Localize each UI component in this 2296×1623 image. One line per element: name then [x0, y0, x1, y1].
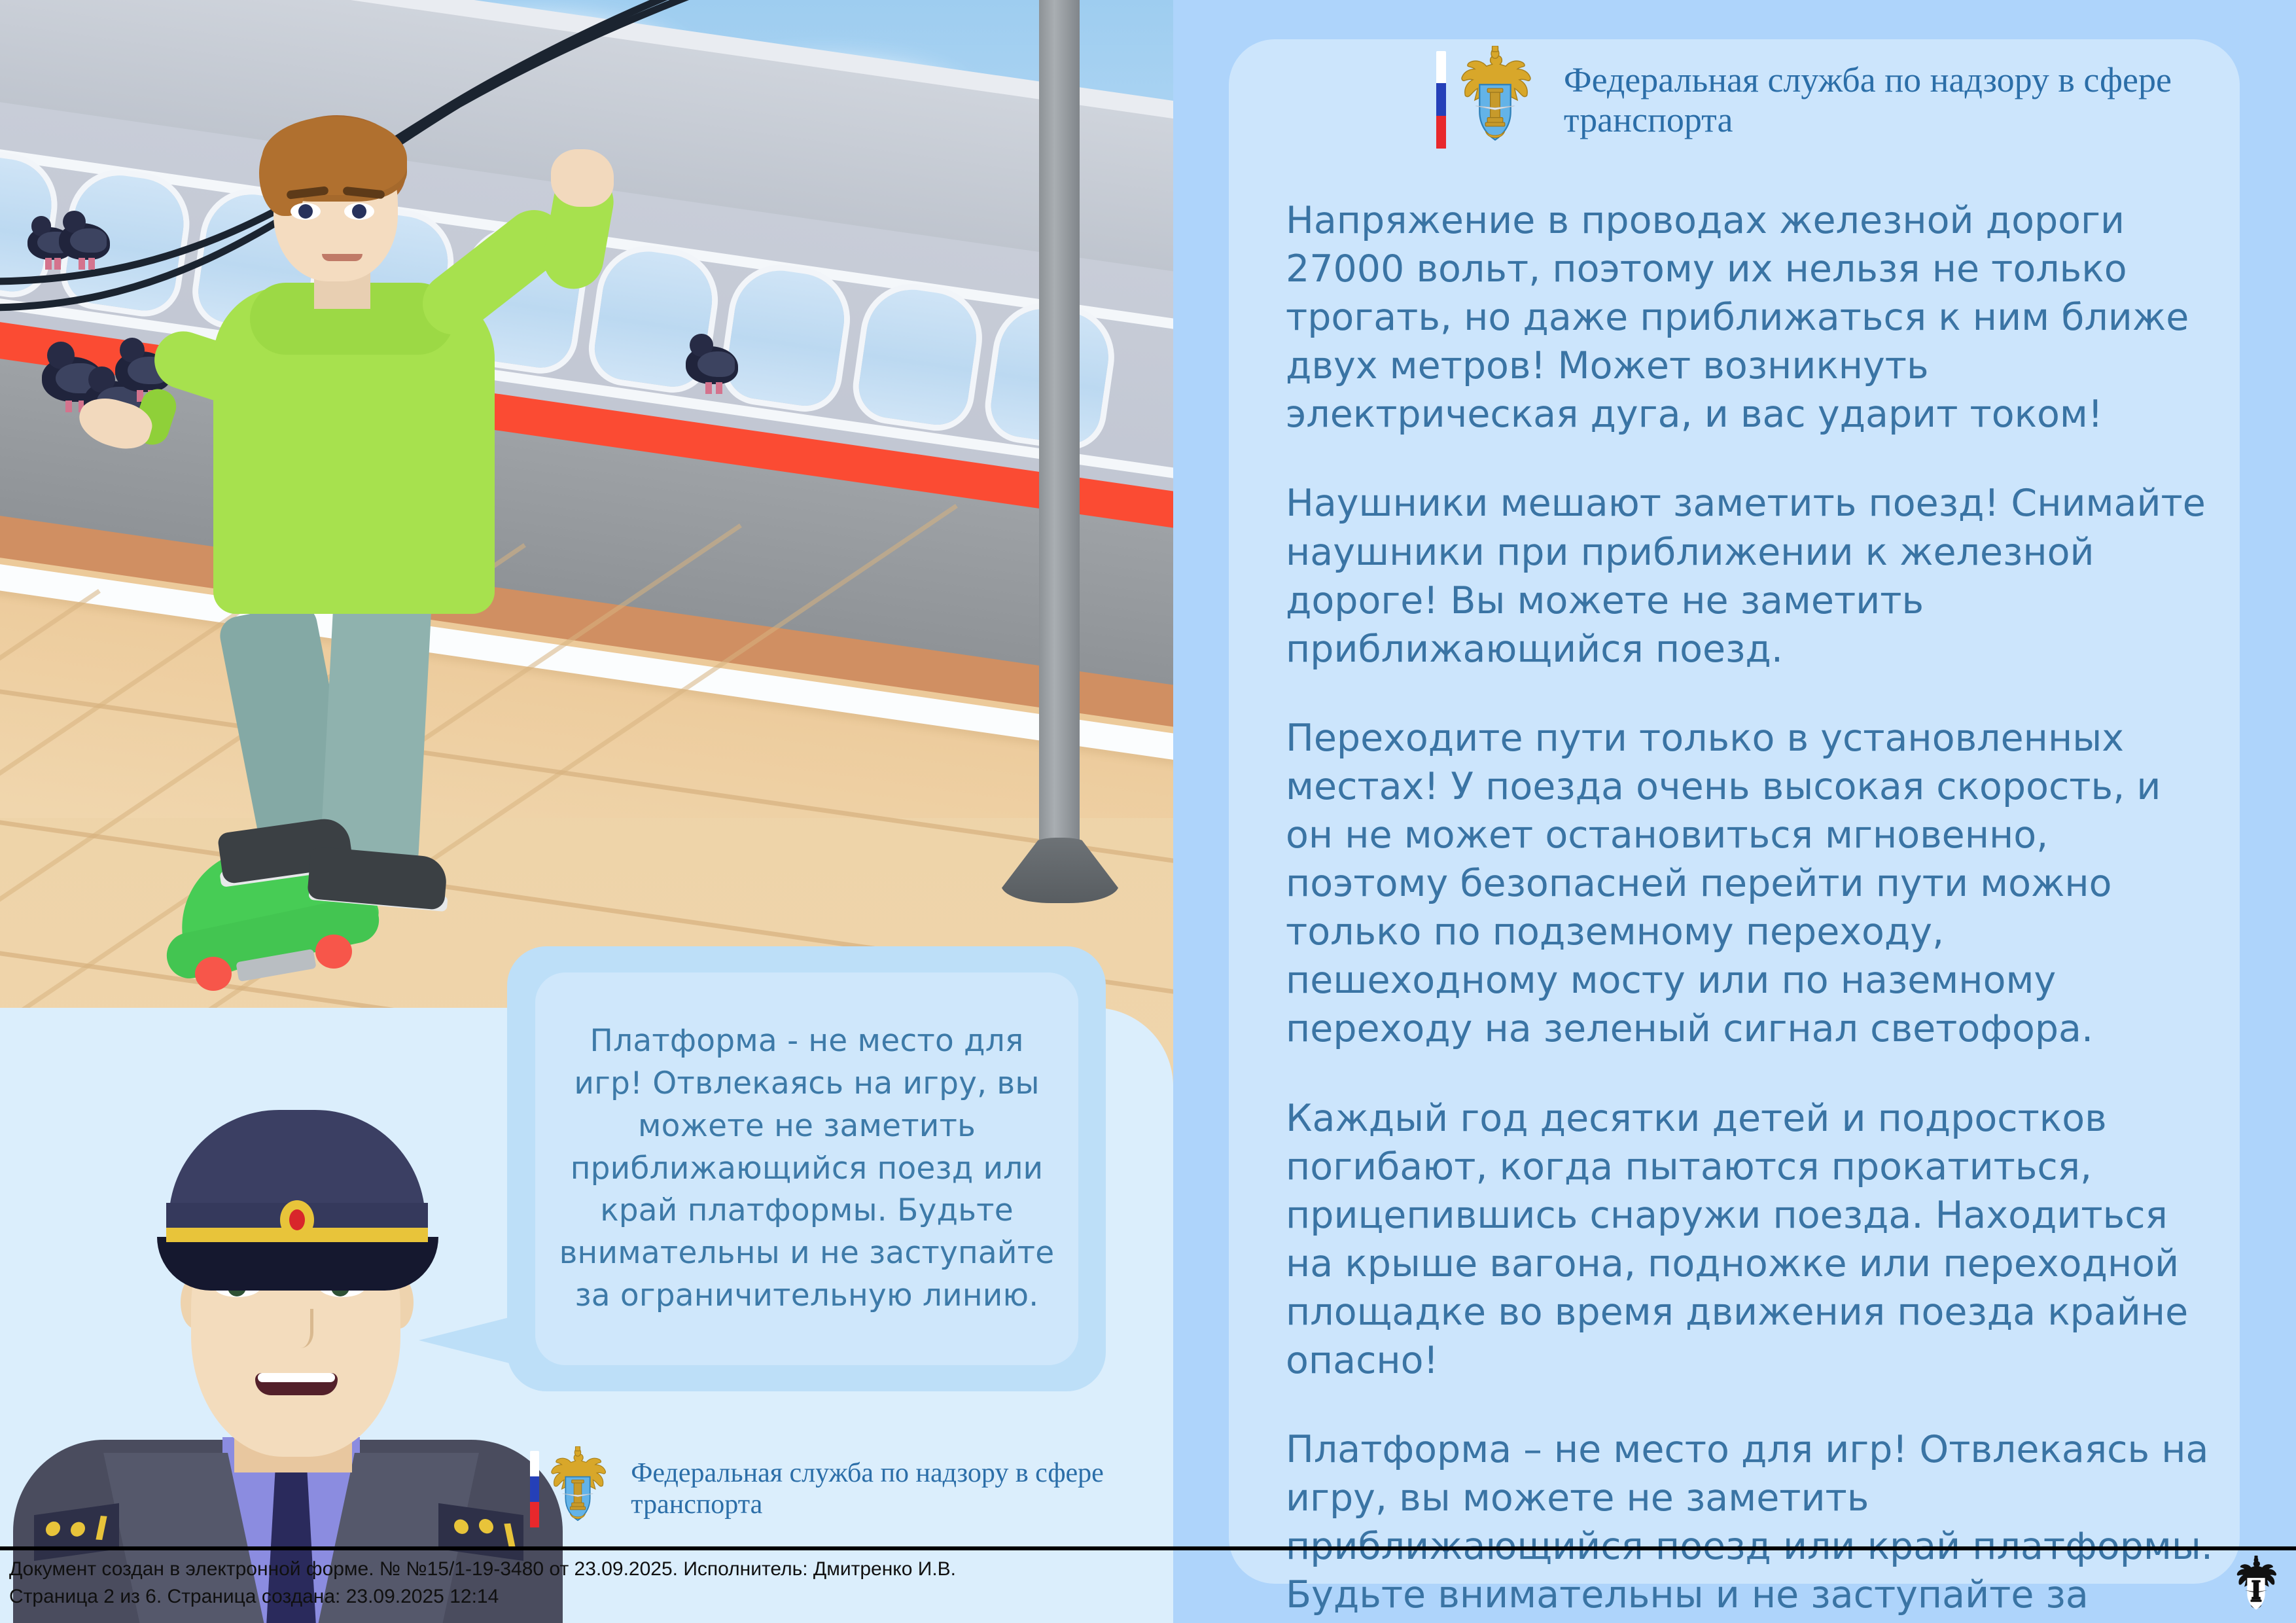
paragraph: Каждый год десятки детей и подростков по…	[1286, 1094, 2215, 1385]
nose	[281, 1309, 313, 1348]
pupil-right	[352, 204, 366, 219]
skateboard-wheel	[315, 935, 352, 969]
catenary-pole	[1039, 0, 1080, 857]
paragraph: Переходите пути только в установленных м…	[1286, 714, 2215, 1054]
illustration-panel: Платформа - не место для игр! Отвлекаясь…	[0, 0, 1173, 1623]
pigeon	[686, 334, 738, 386]
footer-line-2: Страница 2 из 6. Страница создана: 23.09…	[9, 1583, 499, 1611]
document-footer: Документ создан в электронной форме. № №…	[0, 1546, 2296, 1623]
paragraph: Напряжение в проводах железной дороги 27…	[1286, 196, 2215, 438]
agency-logo-text: Федеральная служба по надзору в сфере тр…	[631, 1458, 1173, 1520]
cap-peak	[157, 1237, 438, 1291]
paragraph: Наушники мешают заметить поезд! Снимайте…	[1286, 479, 2215, 673]
russian-flag-icon	[1436, 51, 1446, 149]
skateboarder-character	[65, 111, 602, 975]
agency-logo-illustration: Федеральная служба по надзору в сфере тр…	[530, 1446, 1173, 1532]
agency-logo-text: Федеральная служба по надзору в сфере тр…	[1564, 60, 2296, 139]
skateboard-wheel	[195, 957, 232, 991]
eagle-emblem-icon	[2228, 1556, 2284, 1616]
speech-bubble-text: Платформа - не место для игр! Отвлекаясь…	[552, 1020, 1061, 1317]
russian-flag-icon	[530, 1451, 539, 1528]
safety-paragraphs: Напряжение в проводах железной дороги 27…	[1286, 196, 2215, 1623]
double-headed-eagle-icon	[539, 1446, 616, 1532]
agency-logo-header: Федеральная служба по надзору в сфере тр…	[1436, 46, 2296, 154]
speech-bubble-tail	[419, 1315, 517, 1365]
footer-divider	[0, 1546, 2296, 1550]
teeth	[258, 1373, 335, 1382]
mouth	[322, 254, 362, 261]
cap-cockade-center	[289, 1209, 305, 1230]
poster-page: Платформа - не место для игр! Отвлекаясь…	[0, 0, 2296, 1623]
footer-line-1: Документ создан в электронной форме. № №…	[9, 1556, 956, 1584]
hand-right	[551, 149, 614, 207]
speech-bubble: Платформа - не место для игр! Отвлекаясь…	[535, 972, 1078, 1365]
double-headed-eagle-icon	[1446, 46, 1544, 154]
pupil-left	[298, 204, 313, 219]
